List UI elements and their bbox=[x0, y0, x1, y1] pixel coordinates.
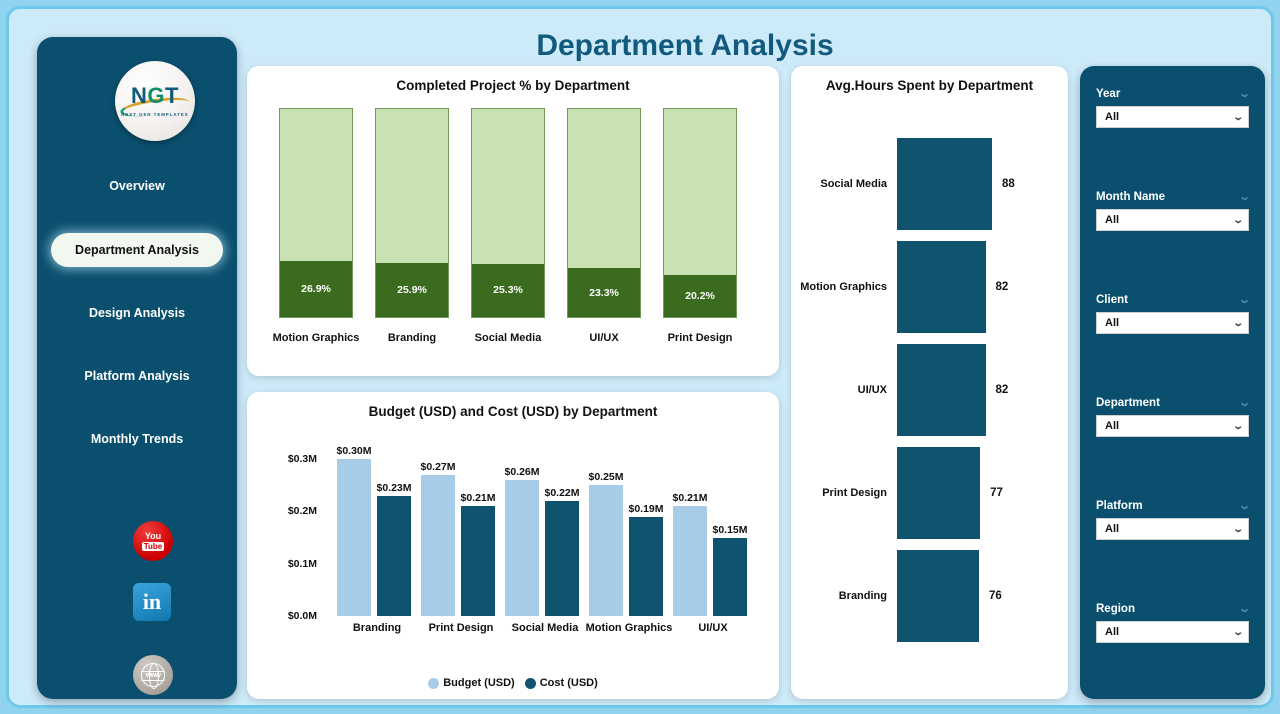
sidebar-item-label: Monthly Trends bbox=[91, 432, 183, 446]
chevron-down-icon[interactable]: ⌄ bbox=[1240, 192, 1249, 203]
linkedin-icon[interactable]: in bbox=[133, 583, 173, 623]
slicer-label: Client bbox=[1096, 294, 1128, 306]
budget-bar[interactable]: $0.30M bbox=[337, 459, 371, 616]
chevron-down-icon[interactable]: ⌄ bbox=[1234, 421, 1242, 432]
stacked-bar-value: 25.9% bbox=[376, 263, 448, 317]
bar-group: $0.26M$0.22MSocial Media bbox=[503, 446, 587, 616]
slicer-header: Client⌄ bbox=[1096, 294, 1249, 306]
category-label: Print Design bbox=[653, 332, 747, 344]
chevron-down-icon[interactable]: ⌄ bbox=[1234, 524, 1242, 535]
hours-bar[interactable] bbox=[897, 241, 986, 333]
bar-value-label: 76 bbox=[989, 590, 1002, 602]
bar-value-label: $0.23M bbox=[376, 482, 411, 494]
bar-value-label: 88 bbox=[1002, 178, 1015, 190]
slicer-header: Month Name⌄ bbox=[1096, 191, 1249, 203]
sidebar-item-platform-analysis[interactable]: Platform Analysis bbox=[51, 359, 223, 393]
slicer-label: Region bbox=[1096, 603, 1135, 615]
avg-hours-card: Avg.Hours Spent by Department Social Med… bbox=[791, 66, 1068, 699]
category-label: Motion Graphics bbox=[269, 332, 363, 344]
slicer-month-name: Month Name⌄All⌄ bbox=[1096, 191, 1249, 231]
logo-tagline: NEXT GEN TEMPLATES bbox=[121, 112, 188, 117]
slicer-department: Department⌄All⌄ bbox=[1096, 397, 1249, 437]
brand-logo: NGT NEXT GEN TEMPLATES bbox=[115, 61, 195, 141]
chevron-down-icon[interactable]: ⌄ bbox=[1240, 398, 1249, 409]
category-label: Motion Graphics bbox=[791, 281, 897, 293]
slicer-label: Month Name bbox=[1096, 191, 1165, 203]
slicer-value: All bbox=[1105, 317, 1119, 329]
stacked-bar-value: 25.3% bbox=[472, 264, 544, 317]
completed-project-pct-plot: 26.9%Motion Graphics25.9%Branding25.3%So… bbox=[279, 108, 747, 344]
hours-row: Branding76 bbox=[791, 550, 1068, 642]
chevron-down-icon[interactable]: ⌄ bbox=[1234, 215, 1242, 226]
budget-cost-plot: $0.0M$0.1M$0.2M$0.3M$0.30M$0.23MBranding… bbox=[263, 434, 763, 664]
page-title: Department Analysis bbox=[245, 29, 1125, 63]
stacked-bar-value: 20.2% bbox=[664, 275, 736, 317]
cost-bar[interactable]: $0.22M bbox=[545, 501, 579, 616]
y-axis-tick: $0.0M bbox=[263, 610, 317, 622]
budget-bar[interactable]: $0.27M bbox=[421, 475, 455, 616]
y-axis-tick: $0.3M bbox=[263, 453, 317, 465]
hours-bar[interactable] bbox=[897, 447, 980, 539]
bar-value-label: 82 bbox=[996, 384, 1009, 396]
chevron-down-icon[interactable]: ⌄ bbox=[1234, 112, 1242, 123]
linkedin-icon-label: in bbox=[133, 583, 171, 621]
slicer-header: Platform⌄ bbox=[1096, 500, 1249, 512]
bar-group: $0.21M$0.15MUI/UX bbox=[671, 446, 755, 616]
legend-swatch-icon bbox=[428, 678, 439, 689]
left-sidebar: NGT NEXT GEN TEMPLATES Overview Departme… bbox=[37, 37, 237, 699]
slicer-label: Platform bbox=[1096, 500, 1143, 512]
cost-bar[interactable]: $0.23M bbox=[377, 496, 411, 616]
completed-project-pct-card: Completed Project % by Department 26.9%M… bbox=[247, 66, 779, 376]
slicer-year: Year⌄All⌄ bbox=[1096, 88, 1249, 128]
avg-hours-plot: Social Media88Motion Graphics82UI/UX82Pr… bbox=[791, 110, 1068, 685]
category-label: Social Media bbox=[791, 178, 897, 190]
slicer-dropdown[interactable]: All⌄ bbox=[1096, 518, 1249, 540]
sidebar-item-overview[interactable]: Overview bbox=[51, 169, 223, 203]
budget-bar[interactable]: $0.26M bbox=[505, 480, 539, 616]
bar-value-label: $0.21M bbox=[460, 492, 495, 504]
youtube-icon-line2: Tube bbox=[142, 542, 165, 551]
bar-value-label: 82 bbox=[996, 281, 1009, 293]
category-label: UI/UX bbox=[659, 622, 767, 634]
bar-value-label: $0.27M bbox=[420, 461, 455, 473]
youtube-icon[interactable]: You Tube bbox=[133, 521, 173, 561]
sidebar-item-monthly-trends[interactable]: Monthly Trends bbox=[51, 422, 223, 456]
website-icon[interactable]: www bbox=[133, 655, 173, 695]
bar-value-label: $0.25M bbox=[588, 471, 623, 483]
stacked-column[interactable]: 26.9%Motion Graphics bbox=[279, 108, 353, 344]
hours-bar[interactable] bbox=[897, 550, 979, 642]
legend-item-budget[interactable]: Budget (USD) bbox=[428, 677, 515, 689]
stacked-bar[interactable]: 23.3% bbox=[567, 108, 641, 318]
bar-value-label: $0.26M bbox=[504, 466, 539, 478]
slicer-region: Region⌄All⌄ bbox=[1096, 603, 1249, 643]
slicer-header: Department⌄ bbox=[1096, 397, 1249, 409]
y-axis-tick: $0.2M bbox=[263, 505, 317, 517]
slicer-header: Year⌄ bbox=[1096, 88, 1249, 100]
category-label: Social Media bbox=[461, 332, 555, 344]
stacked-column[interactable]: 25.9%Branding bbox=[375, 108, 449, 344]
legend-item-cost[interactable]: Cost (USD) bbox=[525, 677, 598, 689]
chart-legend: Budget (USD) Cost (USD) bbox=[247, 677, 779, 689]
slicer-label: Year bbox=[1096, 88, 1120, 100]
bar-value-label: $0.15M bbox=[712, 524, 747, 536]
sidebar-item-label: Overview bbox=[109, 179, 165, 193]
chart-title: Budget (USD) and Cost (USD) by Departmen… bbox=[247, 404, 779, 419]
cost-bar[interactable]: $0.15M bbox=[713, 538, 747, 616]
hours-row: Social Media88 bbox=[791, 138, 1068, 230]
slicer-dropdown[interactable]: All⌄ bbox=[1096, 621, 1249, 643]
bar-value-label: 77 bbox=[990, 487, 1003, 499]
slicer-dropdown[interactable]: All⌄ bbox=[1096, 106, 1249, 128]
sidebar-item-department-analysis[interactable]: Department Analysis bbox=[51, 233, 223, 267]
slicer-value: All bbox=[1105, 214, 1119, 226]
category-label: UI/UX bbox=[557, 332, 651, 344]
hours-row: Motion Graphics82 bbox=[791, 241, 1068, 333]
bar-value-label: $0.21M bbox=[672, 492, 707, 504]
stacked-bar-value: 23.3% bbox=[568, 268, 640, 317]
slicer-platform: Platform⌄All⌄ bbox=[1096, 500, 1249, 540]
budget-cost-card: Budget (USD) and Cost (USD) by Departmen… bbox=[247, 392, 779, 699]
website-icon-label: www bbox=[141, 663, 165, 687]
sidebar-item-label: Design Analysis bbox=[89, 306, 185, 320]
bar-value-label: $0.30M bbox=[336, 445, 371, 457]
chevron-down-icon[interactable]: ⌄ bbox=[1240, 295, 1249, 306]
youtube-icon-line1: You bbox=[145, 532, 161, 541]
stacked-column[interactable]: 23.3%UI/UX bbox=[567, 108, 641, 344]
chevron-down-icon[interactable]: ⌄ bbox=[1234, 627, 1242, 638]
sidebar-item-label: Department Analysis bbox=[75, 243, 199, 257]
cost-bar[interactable]: $0.21M bbox=[461, 506, 495, 616]
hours-row: UI/UX82 bbox=[791, 344, 1068, 436]
sidebar-item-label: Platform Analysis bbox=[84, 369, 189, 383]
slicer-value: All bbox=[1105, 420, 1119, 432]
slicer-dropdown[interactable]: All⌄ bbox=[1096, 209, 1249, 231]
category-label: UI/UX bbox=[791, 384, 897, 396]
stacked-bar-value: 26.9% bbox=[280, 261, 352, 317]
dashboard-frame: NGT NEXT GEN TEMPLATES Overview Departme… bbox=[6, 6, 1274, 708]
chevron-down-icon[interactable]: ⌄ bbox=[1240, 89, 1249, 100]
stacked-bar[interactable]: 25.9% bbox=[375, 108, 449, 318]
category-label: Branding bbox=[791, 590, 897, 602]
chart-title: Avg.Hours Spent by Department bbox=[791, 78, 1068, 93]
slicer-dropdown[interactable]: All⌄ bbox=[1096, 312, 1249, 334]
slicer-value: All bbox=[1105, 523, 1119, 535]
chart-title: Completed Project % by Department bbox=[247, 78, 779, 93]
hours-row: Print Design77 bbox=[791, 447, 1068, 539]
chevron-down-icon[interactable]: ⌄ bbox=[1240, 501, 1249, 512]
legend-swatch-icon bbox=[525, 678, 536, 689]
bar-group: $0.30M$0.23MBranding bbox=[335, 446, 419, 616]
category-label: Print Design bbox=[791, 487, 897, 499]
stacked-bar[interactable]: 26.9% bbox=[279, 108, 353, 318]
stacked-bar[interactable]: 20.2% bbox=[663, 108, 737, 318]
slicer-value: All bbox=[1105, 626, 1119, 638]
chevron-down-icon[interactable]: ⌄ bbox=[1240, 604, 1249, 615]
category-label: Branding bbox=[365, 332, 459, 344]
stacked-column[interactable]: 20.2%Print Design bbox=[663, 108, 737, 344]
slicer-header: Region⌄ bbox=[1096, 603, 1249, 615]
bar-value-label: $0.22M bbox=[544, 487, 579, 499]
budget-bar[interactable]: $0.21M bbox=[673, 506, 707, 616]
legend-label: Cost (USD) bbox=[540, 677, 598, 689]
chevron-down-icon[interactable]: ⌄ bbox=[1234, 318, 1242, 329]
bar-group: $0.25M$0.19MMotion Graphics bbox=[587, 446, 671, 616]
hours-bar[interactable] bbox=[897, 344, 986, 436]
slicer-label: Department bbox=[1096, 397, 1160, 409]
logo-mark: NGT bbox=[131, 85, 179, 107]
sidebar-item-design-analysis[interactable]: Design Analysis bbox=[51, 296, 223, 330]
slicer-value: All bbox=[1105, 111, 1119, 123]
bar-value-label: $0.19M bbox=[628, 503, 663, 515]
legend-label: Budget (USD) bbox=[443, 677, 515, 689]
budget-bar[interactable]: $0.25M bbox=[589, 485, 623, 616]
bar-group: $0.27M$0.21MPrint Design bbox=[419, 446, 503, 616]
cost-bar[interactable]: $0.19M bbox=[629, 517, 663, 616]
hours-bar[interactable] bbox=[897, 138, 992, 230]
filter-panel: Year⌄All⌄Month Name⌄All⌄Client⌄All⌄Depar… bbox=[1080, 66, 1265, 699]
stacked-column[interactable]: 25.3%Social Media bbox=[471, 108, 545, 344]
stacked-bar[interactable]: 25.3% bbox=[471, 108, 545, 318]
slicer-dropdown[interactable]: All⌄ bbox=[1096, 415, 1249, 437]
y-axis-tick: $0.1M bbox=[263, 558, 317, 570]
slicer-client: Client⌄All⌄ bbox=[1096, 294, 1249, 334]
